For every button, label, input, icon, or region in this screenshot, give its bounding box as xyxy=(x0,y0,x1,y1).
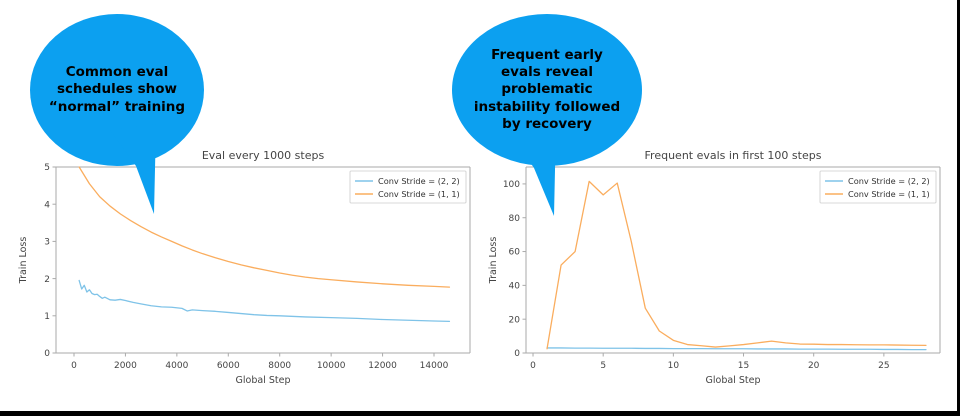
y-tick-label: 0 xyxy=(514,349,520,359)
legend-label: Conv Stride = (1, 1) xyxy=(378,189,460,199)
y-tick-label: 4 xyxy=(44,200,50,210)
y-tick-label: 2 xyxy=(44,275,50,285)
screenshot-root: Eval every 1000 steps0200040006000800010… xyxy=(0,0,960,416)
x-tick-label: 14000 xyxy=(420,361,449,371)
annotation-text-right: Frequent early evals reveal problematic … xyxy=(452,47,642,133)
x-tick-label: 0 xyxy=(530,361,536,371)
x-tick-label: 20 xyxy=(808,361,820,371)
series-line xyxy=(79,280,449,321)
chart-title: Frequent evals in first 100 steps xyxy=(645,149,822,162)
x-tick-label: 8000 xyxy=(268,361,291,371)
y-tick-label: 40 xyxy=(509,282,521,292)
chart-panel-left: Eval every 1000 steps0200040006000800010… xyxy=(8,145,478,395)
x-tick-label: 25 xyxy=(878,361,889,371)
line-chart-eval-every-1000-steps: Eval every 1000 steps0200040006000800010… xyxy=(8,145,478,395)
series-line xyxy=(547,348,926,350)
legend-label: Conv Stride = (2, 2) xyxy=(848,176,930,186)
x-tick-label: 0 xyxy=(71,361,77,371)
x-axis-label: Global Step xyxy=(706,375,761,386)
x-tick-label: 6000 xyxy=(217,361,240,371)
x-tick-label: 2000 xyxy=(114,361,137,371)
bubble-tail-left-icon xyxy=(110,124,200,219)
x-tick-label: 10000 xyxy=(317,361,346,371)
y-tick-label: 1 xyxy=(44,312,50,322)
x-tick-label: 4000 xyxy=(165,361,188,371)
x-tick-label: 12000 xyxy=(368,361,397,371)
annotation-bubble-right: Frequent early evals reveal problematic … xyxy=(452,14,642,166)
x-tick-label: 5 xyxy=(600,361,606,371)
y-axis-label: Train Loss xyxy=(488,237,499,285)
y-axis-label: Train Loss xyxy=(18,237,29,285)
x-tick-label: 15 xyxy=(738,361,749,371)
x-axis-label: Global Step xyxy=(236,375,291,386)
chart-title: Eval every 1000 steps xyxy=(202,149,325,162)
y-tick-label: 20 xyxy=(509,315,521,325)
series-line xyxy=(547,181,926,348)
y-tick-label: 60 xyxy=(509,248,521,258)
y-tick-label: 3 xyxy=(44,238,50,248)
bubble-tail-right-icon xyxy=(508,124,598,219)
legend-label: Conv Stride = (2, 2) xyxy=(378,176,460,186)
x-tick-label: 10 xyxy=(668,361,680,371)
annotation-text-left: Common eval schedules show “normal” trai… xyxy=(30,64,204,116)
legend-label: Conv Stride = (1, 1) xyxy=(848,189,930,199)
y-tick-label: 0 xyxy=(44,349,50,359)
annotation-bubble-left: Common eval schedules show “normal” trai… xyxy=(30,14,204,166)
